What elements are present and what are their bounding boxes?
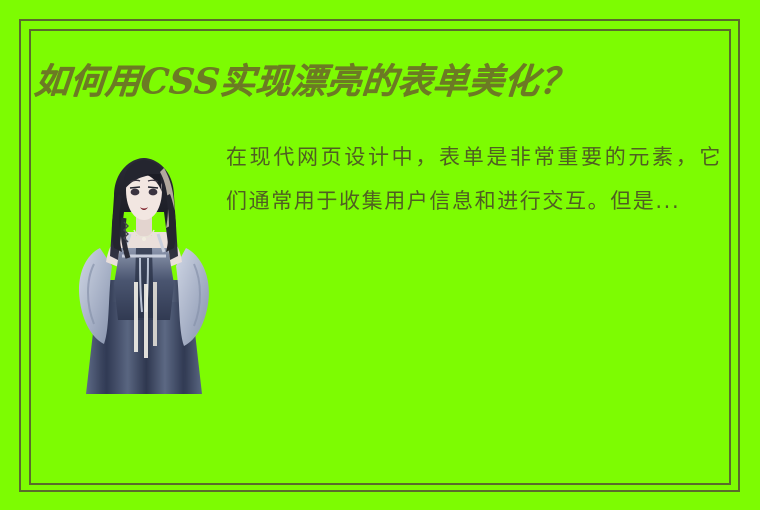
- article-excerpt: 在现代网页设计中，表单是非常重要的元素，它们通常用于收集用户信息和进行交互。但是…: [226, 135, 722, 223]
- character-illustration: [74, 152, 214, 394]
- page-title: 如何用CSS实现漂亮的表单美化？: [32, 58, 727, 110]
- poster-canvas: 如何用CSS实现漂亮的表单美化？: [0, 0, 760, 510]
